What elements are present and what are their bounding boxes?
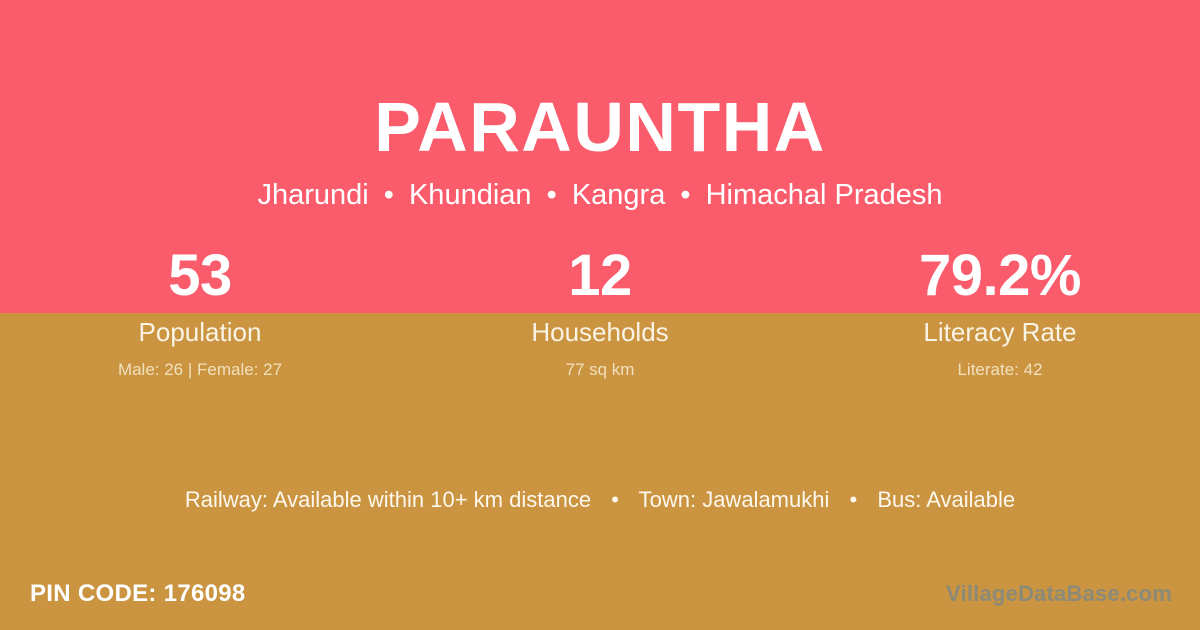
facility-railway: Railway: Available within 10+ km distanc… — [185, 487, 591, 512]
stat-literacy-rate: 79.2% Literacy Rate Literate: 42 — [800, 243, 1200, 381]
stat-value: 53 — [0, 243, 400, 309]
card-footer: PIN CODE: 176098 VillageDataBase.com — [0, 572, 1200, 616]
breadcrumb-district: Kangra — [572, 179, 666, 211]
stat-population: 53 Population Male: 26 | Female: 27 — [0, 243, 400, 381]
pin-code: PIN CODE: 176098 — [0, 579, 246, 609]
village-info-card: PARAUNTHA Jharundi • Khundian • Kangra •… — [0, 0, 1200, 630]
stat-sub-detail: 77 sq km — [400, 348, 800, 381]
breadcrumb-panchayat: Jharundi — [257, 179, 368, 211]
stat-value: 79.2% — [800, 243, 1200, 309]
facility-bus: Bus: Available — [877, 487, 1015, 512]
stats-row: 53 Population Male: 26 | Female: 27 12 H… — [0, 243, 1200, 381]
stat-sub-detail: Literate: 42 — [800, 348, 1200, 381]
breadcrumb-separator-icon: • — [673, 179, 697, 211]
site-watermark: VillageDataBase.com — [946, 580, 1200, 608]
facility-town: Town: Jawalamukhi — [639, 487, 830, 512]
breadcrumb: Jharundi • Khundian • Kangra • Himachal … — [0, 168, 1200, 212]
card-header: PARAUNTHA Jharundi • Khundian • Kangra •… — [0, 0, 1200, 212]
stat-sub-detail: Male: 26 | Female: 27 — [0, 348, 400, 381]
stat-households: 12 Households 77 sq km — [400, 243, 800, 381]
breadcrumb-block: Khundian — [409, 179, 532, 211]
facilities-line: Railway: Available within 10+ km distanc… — [0, 486, 1200, 514]
breadcrumb-state: Himachal Pradesh — [706, 179, 943, 211]
stat-value: 12 — [400, 243, 800, 309]
stat-label: Population — [0, 309, 400, 348]
breadcrumb-separator-icon: • — [377, 179, 401, 211]
facility-separator-icon: • — [835, 487, 871, 512]
page-title: PARAUNTHA — [0, 0, 1200, 168]
stat-label: Literacy Rate — [800, 309, 1200, 348]
breadcrumb-separator-icon: • — [540, 179, 564, 211]
stat-label: Households — [400, 309, 800, 348]
facility-separator-icon: • — [597, 487, 633, 512]
